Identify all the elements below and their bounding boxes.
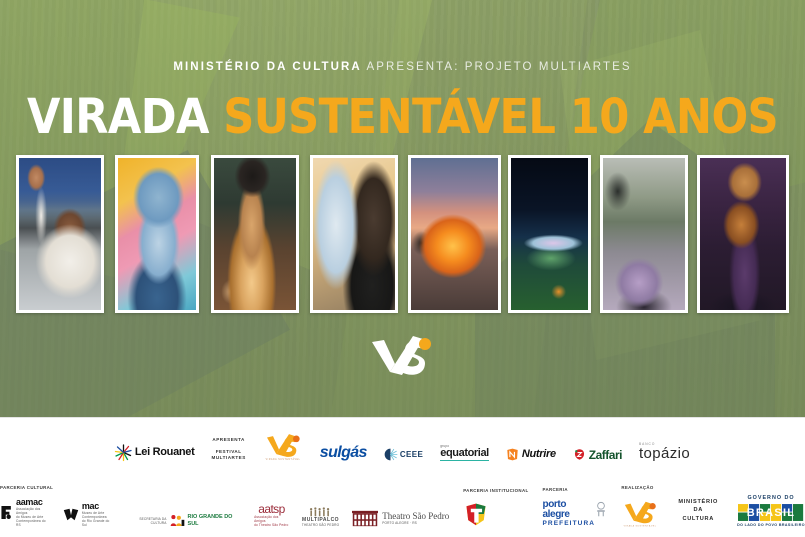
logo-apresenta-festival-multiartes: APRESENTA FESTIVAL MULTIARTES bbox=[212, 437, 246, 461]
logo-grupo-equatorial[interactable]: grupo equatorial bbox=[440, 444, 489, 461]
logo-nutrire[interactable]: Nutrire bbox=[506, 448, 556, 461]
group-parceria-institucional: PARCERIA INSTITUCIONAL bbox=[463, 488, 528, 527]
vs-orange-footer-icon: VIRADA SUSTENTÁVEL bbox=[621, 498, 659, 527]
caption-parceria: PARCERIA bbox=[543, 487, 568, 493]
caption-realizacao: REALIZAÇÃO bbox=[621, 485, 653, 491]
logo-banco-topazio[interactable]: BANCO topázio bbox=[639, 442, 690, 461]
logo-fundacao-institucional-rs[interactable] bbox=[463, 501, 489, 527]
sponsor-row-top: Lei Rouanet APRESENTA FESTIVAL MULTIARTE… bbox=[0, 417, 805, 473]
group-parceria: PARCERIA porto alegre PREFEITURA bbox=[543, 487, 608, 527]
prefeitura-label: PREFEITURA bbox=[543, 521, 596, 528]
ceee-label: CEEE bbox=[400, 451, 423, 459]
aatsp-sub: Associação dos Amigos do Theatro São Ped… bbox=[254, 515, 289, 527]
zaffari-mark-icon bbox=[573, 448, 586, 461]
photo-card-3 bbox=[211, 155, 299, 313]
multipalco-sub: THEATRO SÃO PEDRO bbox=[302, 523, 339, 527]
caption-parceria-cultural: PARCERIA CULTURAL bbox=[0, 485, 53, 491]
photo-card-2 bbox=[115, 155, 199, 313]
logo-multipalco[interactable]: MULTIPALCO THEATRO SÃO PEDRO bbox=[302, 507, 339, 527]
logo-ceee[interactable]: CEEE bbox=[384, 448, 423, 461]
governo-do-sup: GOVERNO DO bbox=[747, 496, 794, 501]
vs-orange-icon: VIRADA SUSTENTÁVEL bbox=[263, 430, 303, 461]
logo-aamac[interactable]: aamac Associação dos Amigos do Museu de … bbox=[0, 498, 50, 527]
group-realizacao: REALIZAÇÃO VIRADA SUSTENTÁVEL bbox=[621, 485, 659, 527]
equatorial-label: equatorial bbox=[440, 448, 489, 461]
logo-vs-realizacao[interactable]: VIRADA SUSTENTÁVEL bbox=[621, 498, 659, 527]
caption-parceria-institucional: PARCERIA INSTITUCIONAL bbox=[463, 488, 528, 494]
logo-vs-virada-sustentavel[interactable]: VIRADA SUSTENTÁVEL bbox=[263, 430, 303, 461]
apresenta-label: APRESENTA bbox=[212, 437, 245, 443]
mac-mark-icon bbox=[63, 508, 79, 521]
nutrire-mark-icon bbox=[506, 448, 519, 461]
photo-card-7 bbox=[600, 155, 688, 313]
ministerio-cultura-label: MINISTÉRIO DA CULTURA bbox=[673, 498, 723, 523]
aamac-label: aamac bbox=[16, 498, 50, 507]
festival-multiartes-label: FESTIVAL MULTIARTES bbox=[212, 449, 246, 461]
lei-rouanet-burst-icon bbox=[115, 444, 132, 461]
logo-theatro-sao-pedro[interactable]: Theatro São Pedro PORTO ALEGRE · RS bbox=[352, 510, 449, 527]
lei-rouanet-label: Lei Rouanet bbox=[135, 447, 195, 458]
rio-grande-do-sul-label: RIO GRANDE DO SUL bbox=[188, 514, 242, 527]
group-parceria-cultural: PARCERIA CULTURAL aamac Associação dos A… bbox=[0, 485, 449, 527]
aamac-mark-icon bbox=[0, 505, 13, 520]
institucional-mark-icon bbox=[463, 501, 489, 527]
logo-mac[interactable]: mac Museu de Arte Contemporânea do Rio G… bbox=[63, 502, 113, 527]
theatro-sao-pedro-sub: PORTO ALEGRE · RS bbox=[382, 521, 449, 525]
aatsp-label: aatsp bbox=[258, 503, 284, 515]
nutrire-label: Nutrire bbox=[522, 449, 556, 460]
sponsor-row-bottom: PARCERIA CULTURAL aamac Associação dos A… bbox=[0, 473, 805, 537]
photo-strip bbox=[0, 155, 805, 315]
multipalco-figures-icon bbox=[309, 507, 333, 517]
mac-label: mac bbox=[82, 502, 113, 511]
logo-sulgas[interactable]: sulgás bbox=[320, 445, 367, 461]
kicker-line: MINISTÉRIO DA CULTURA APRESENTA: PROJETO… bbox=[0, 62, 805, 74]
vs-footer-ring-text: VIRADA SUSTENTÁVEL bbox=[624, 524, 657, 527]
brasil-label: BRASIL bbox=[747, 506, 796, 518]
ceee-mark-icon bbox=[384, 448, 397, 461]
logo-ministerio-da-cultura[interactable]: MINISTÉRIO DA CULTURA bbox=[673, 498, 723, 527]
logo-secretaria-da-cultura-rs[interactable]: SECRETARIA DA CULTURA RIO GRANDE DO SUL bbox=[126, 514, 242, 527]
vs-logo bbox=[368, 330, 438, 378]
footer-sponsors: Lei Rouanet APRESENTA FESTIVAL MULTIARTE… bbox=[0, 417, 805, 537]
page-title: VIRADA SUSTENTÁVEL 10 ANOS bbox=[0, 92, 805, 143]
mac-sub: Museu de Arte Contemporânea do Rio Grand… bbox=[82, 511, 113, 527]
zaffari-label: Zaffari bbox=[589, 449, 622, 461]
porto-alegre-monument-icon bbox=[595, 502, 607, 517]
logo-aatsp[interactable]: aatsp Associação dos Amigos do Theatro S… bbox=[254, 503, 289, 527]
secretaria-cultura-sub: SECRETARIA DA CULTURA bbox=[126, 517, 167, 525]
photo-card-6 bbox=[508, 155, 591, 313]
photo-card-5 bbox=[408, 155, 501, 313]
logo-zaffari[interactable]: Zaffari bbox=[573, 448, 622, 461]
logo-governo-do-brasil[interactable]: GOVERNO DO BRASIL DO LADO DO POVO BRASIL… bbox=[737, 496, 805, 527]
kicker-bold: MINISTÉRIO DA CULTURA bbox=[173, 61, 361, 73]
title-part-orange: SUSTENTÁVEL 10 ANOS bbox=[223, 89, 778, 145]
poster-root: MINISTÉRIO DA CULTURA APRESENTA: PROJETO… bbox=[0, 0, 805, 537]
brasil-tagline: DO LADO DO POVO BRASILEIRO bbox=[737, 523, 805, 527]
vs-ring-text: VIRADA SUSTENTÁVEL bbox=[265, 458, 300, 461]
kicker-rest: APRESENTA: PROJETO MULTIARTES bbox=[366, 61, 631, 73]
topazio-label: topázio bbox=[639, 446, 690, 461]
brasil-blocks-icon: BRASIL bbox=[738, 504, 804, 521]
theatro-building-icon bbox=[352, 510, 378, 527]
porto-alegre-label: porto alegre bbox=[543, 500, 594, 520]
rs-people-icon bbox=[170, 514, 185, 527]
logo-lei-rouanet[interactable]: Lei Rouanet bbox=[115, 444, 195, 461]
title-part-white: VIRADA bbox=[27, 89, 209, 145]
hero-section: MINISTÉRIO DA CULTURA APRESENTA: PROJETO… bbox=[0, 0, 805, 417]
photo-card-1 bbox=[16, 155, 104, 313]
photo-card-8 bbox=[697, 155, 789, 313]
logo-prefeitura-porto-alegre[interactable]: porto alegre PREFEITURA bbox=[543, 500, 608, 528]
photo-card-4 bbox=[310, 155, 398, 313]
aamac-sub: Associação dos Amigos do Museu de Arte C… bbox=[16, 507, 50, 527]
theatro-sao-pedro-label: Theatro São Pedro bbox=[382, 512, 449, 521]
sulgas-label: sulgás bbox=[320, 445, 367, 461]
